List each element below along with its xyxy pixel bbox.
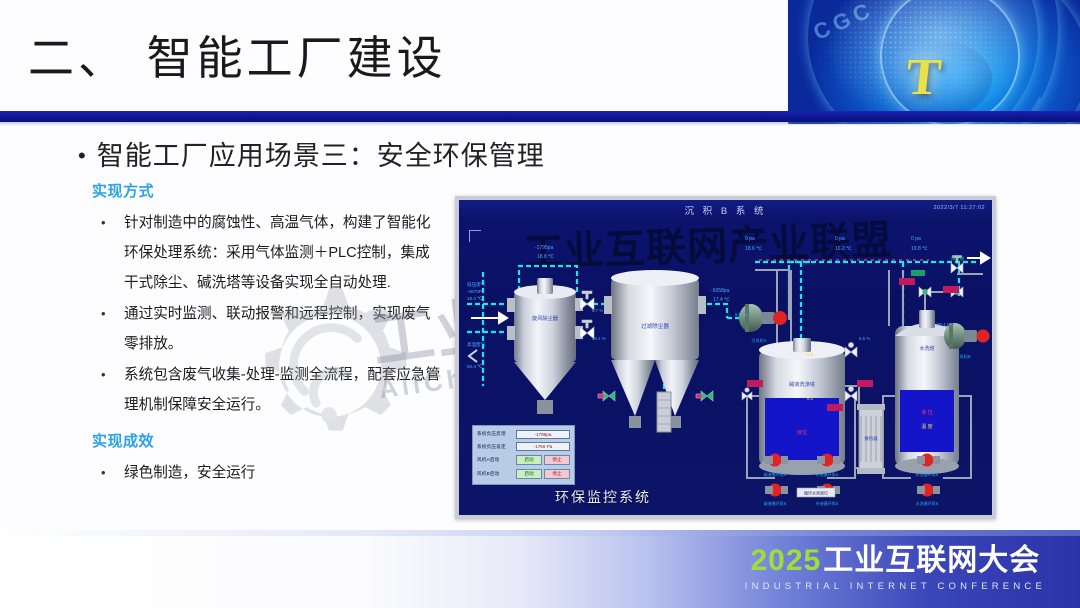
svg-text:-5058pa: -5058pa — [711, 288, 730, 294]
svg-text:92.4 ℃: 92.4 ℃ — [467, 364, 483, 369]
svg-text:液 位: 液 位 — [921, 409, 932, 416]
content-column: 实现方式 针对制造中的腐蚀性、高温气体，构建了智能化环保处理系统：采用气体监测＋… — [92, 180, 444, 489]
fan-b-start-button[interactable]: 启动 — [516, 469, 542, 479]
svg-text:循环水池液位: 循环水池液位 — [804, 490, 828, 496]
fan-a-start-button[interactable]: 启动 — [516, 455, 542, 465]
svg-text:6.0: 6.0 — [807, 396, 814, 401]
headline-bullet-icon: • — [78, 143, 87, 168]
slide-root: CGC T 二、 智能工厂建设 •智能工厂应用场景三：安全环保管理 实现方式 针… — [0, 0, 1080, 608]
svg-text:水洗循环泵B: 水洗循环泵B — [916, 500, 939, 506]
svg-text:29.4 Hz: 29.4 Hz — [937, 322, 952, 327]
title-divider-shadow — [0, 122, 1080, 126]
control-value[interactable]: -1766 Pa — [516, 442, 570, 451]
page-title: 二、 智能工厂建设 — [28, 22, 447, 88]
control-value: -1796pa — [516, 430, 570, 439]
svg-text:8.7 %: 8.7 % — [592, 308, 603, 313]
svg-text:19.8 ℃: 19.8 ℃ — [911, 246, 928, 252]
svg-text:0 pa: 0 pa — [745, 236, 755, 242]
svg-text:6.8: 6.8 — [807, 352, 814, 357]
control-label: 风机B启动 — [477, 471, 516, 477]
bagfilter-vessel: 过滤除尘器 — [604, 270, 706, 428]
fan-b-stop-button[interactable]: 停止 — [544, 469, 570, 479]
section-2-list: 绿色制造，安全运行 — [92, 458, 444, 488]
svg-text:过滤除尘器: 过滤除尘器 — [641, 322, 669, 330]
svg-text:温 度: 温 度 — [921, 423, 932, 430]
svg-text:引风机B: 引风机B — [955, 353, 971, 360]
control-label: 系统负压设定 — [477, 444, 516, 450]
svg-text:18.4 ℃: 18.4 ℃ — [467, 296, 483, 301]
svg-text:补液循环泵A: 补液循环泵A — [816, 471, 839, 477]
tech-decoration-graphic: CGC T — [788, 0, 1080, 124]
list-item: 针对制造中的腐蚀性、高温气体，构建了智能化环保处理系统：采用气体监测＋PLC控制… — [92, 208, 444, 298]
svg-text:17.4 ℃: 17.4 ℃ — [713, 297, 730, 303]
heat-exchanger: 换热器 — [857, 404, 885, 474]
svg-text:26.1 %: 26.1 % — [592, 336, 606, 341]
svg-text:换热器: 换热器 — [864, 435, 878, 442]
control-row-setpoint: 系统负压设定 -1766 Pa — [477, 442, 570, 451]
svg-text:18.8 ℃: 18.8 ℃ — [537, 254, 554, 260]
section-heading-1: 实现方式 — [92, 180, 444, 201]
svg-text:补液循环泵B: 补液循环泵B — [816, 500, 839, 506]
scada-screenshot-frame: 工业互联网产业联盟 沉 积 B 系 统 2022/3/7 11:27:02 — [455, 196, 996, 519]
conference-logo-main: 2025工业互联网大会 — [745, 546, 1046, 576]
control-row-fan-a: 风机A启动 启动 停止 — [477, 455, 570, 465]
section-heading-2: 实现成效 — [92, 430, 444, 451]
svg-text:水洗循环泵A: 水洗循环泵A — [916, 471, 939, 477]
svg-text:-4670Pa: -4670Pa — [467, 289, 485, 294]
section-gap — [92, 421, 444, 430]
scada-control-panel[interactable]: 系统负压反馈 -1796pa 系统负压设定 -1766 Pa 风机A启动 启动 … — [472, 425, 575, 485]
svg-text:8.5 Hz: 8.5 Hz — [735, 312, 748, 317]
conference-name-cn: 工业互联网大会 — [823, 544, 1040, 577]
control-row-fan-b: 风机B启动 启动 停止 — [477, 469, 570, 479]
conference-logo: 2025工业互联网大会 INDUSTRIAL INTERNET CONFEREN… — [745, 546, 1046, 592]
list-item: 绿色制造，安全运行 — [92, 458, 444, 488]
control-label: 系统负压反馈 — [477, 431, 516, 437]
svg-text:高温废气: 高温废气 — [467, 341, 486, 348]
svg-text:低压废气: 低压废气 — [467, 281, 486, 288]
section-1-list: 针对制造中的腐蚀性、高温气体，构建了智能化环保处理系统：采用气体监测＋PLC控制… — [92, 208, 444, 420]
conference-name-en: INDUSTRIAL INTERNET CONFERENCE — [745, 582, 1046, 592]
svg-text:16.2 ℃: 16.2 ℃ — [835, 246, 852, 252]
svg-text:碱液循环泵A: 碱液循环泵A — [764, 471, 787, 477]
inline-filter — [657, 392, 671, 432]
scada-caption: 环保监控系统 — [555, 487, 651, 507]
svg-text:-1795pa: -1795pa — [535, 245, 554, 251]
scada-screen[interactable]: 工业互联网产业联盟 沉 积 B 系 统 2022/3/7 11:27:02 — [459, 200, 992, 515]
svg-text:水洗塔: 水洗塔 — [919, 345, 934, 352]
svg-text:排空阀: 排空阀 — [951, 255, 964, 262]
title-divider — [0, 111, 1080, 122]
headline-text: 智能工厂应用场景三：安全环保管理 — [97, 141, 545, 171]
svg-text:0 pa: 0 pa — [911, 236, 921, 242]
svg-text:碱液洗涤塔: 碱液洗涤塔 — [789, 380, 816, 388]
footer-banner: 2025工业互联网大会 INDUSTRIAL INTERNET CONFEREN… — [0, 530, 1080, 608]
headline-row: •智能工厂应用场景三：安全环保管理 — [78, 134, 545, 173]
svg-text:引风机A: 引风机A — [751, 337, 767, 344]
svg-text:6.5 %: 6.5 % — [859, 336, 870, 341]
list-item: 系统包含废气收集-处理-监测全流程，配套应急管理机制保障安全运行。 — [92, 360, 444, 420]
deco-t-glyph: T — [903, 52, 943, 104]
svg-text:液位: 液位 — [797, 428, 807, 436]
conference-year: 2025 — [751, 544, 822, 577]
svg-text:0 pa: 0 pa — [835, 236, 845, 242]
svg-text:旋风除尘器: 旋风除尘器 — [532, 314, 559, 322]
fan-a-stop-button[interactable]: 停止 — [544, 455, 570, 465]
fan-a: 引风机A — [739, 304, 787, 344]
control-label: 风机A启动 — [477, 457, 516, 463]
svg-text:碱液循环泵B: 碱液循环泵B — [764, 500, 787, 506]
cyclone-vessel: 旋风除尘器 — [507, 278, 583, 414]
control-row-feedback: 系统负压反馈 -1796pa — [477, 430, 570, 439]
list-item: 通过实时监测、联动报警和远程控制，实现废气零排放。 — [92, 299, 444, 359]
svg-text:18.6 ℃: 18.6 ℃ — [745, 246, 762, 252]
